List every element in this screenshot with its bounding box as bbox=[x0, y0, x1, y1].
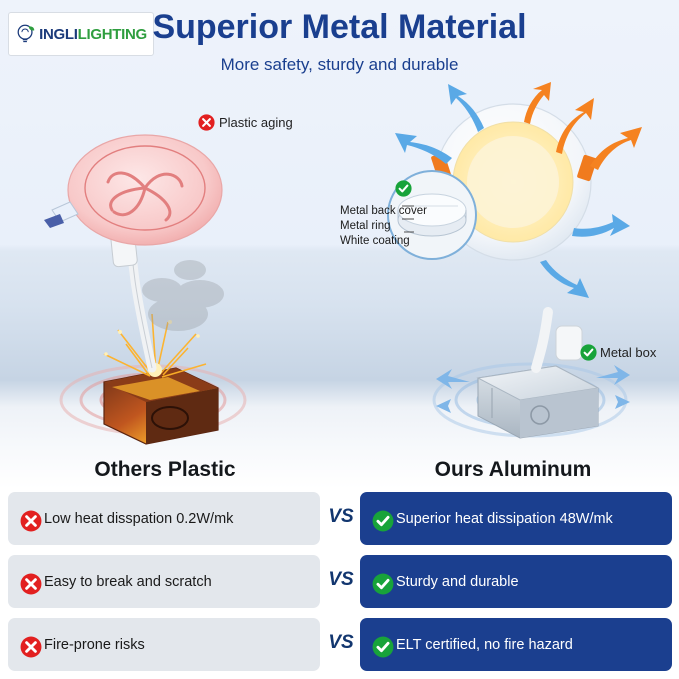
burnt-junction-box bbox=[104, 368, 218, 444]
page-subtitle: More safety, sturdy and durable bbox=[0, 55, 679, 75]
illustration-area: Plastic aging Metal back cover Metal rin… bbox=[0, 82, 679, 452]
page-title: Superior Metal Material bbox=[0, 8, 679, 47]
callout-plastic-aging-label: Plastic aging bbox=[219, 115, 293, 130]
comparison-cell-others-2-label: Easy to break and scratch bbox=[44, 574, 212, 590]
red-cross-icon bbox=[198, 114, 215, 131]
green-check-icon bbox=[372, 510, 389, 527]
green-check-icon bbox=[395, 180, 412, 197]
table-row: Low heat disspation 0.2W/mk VS Superior … bbox=[0, 492, 679, 545]
callout-metal-back-cover bbox=[395, 180, 412, 197]
callout-metal-box-label: Metal box bbox=[600, 345, 656, 360]
comparison-cell-ours-2-label: Sturdy and durable bbox=[396, 574, 519, 590]
comparison-cell-others-1-label: Low heat disspation 0.2W/mk bbox=[44, 511, 233, 527]
table-row: Easy to break and scratch VS Sturdy and … bbox=[0, 555, 679, 608]
product-infographic: INGLILIGHTING Superior Metal Material Mo… bbox=[0, 0, 679, 679]
comparison-cell-ours-2: Sturdy and durable bbox=[360, 555, 672, 608]
green-check-icon bbox=[372, 636, 389, 653]
zoom-label-metal-back-cover: Metal back cover bbox=[340, 204, 427, 219]
vs-label-3: VS bbox=[322, 632, 360, 654]
metal-junction-box bbox=[478, 366, 598, 438]
comparison-cell-others-1: Low heat disspation 0.2W/mk bbox=[8, 492, 320, 545]
comparison-cell-others-2: Easy to break and scratch bbox=[8, 555, 320, 608]
zoom-detail-labels: Metal back cover Metal ring White coatin… bbox=[340, 204, 427, 249]
red-cross-icon bbox=[20, 510, 37, 527]
green-check-icon bbox=[580, 344, 597, 361]
comparison-cell-ours-1-label: Superior heat dissipation 48W/mk bbox=[396, 511, 613, 527]
callout-metal-box: Metal box bbox=[580, 344, 656, 361]
table-row: Fire-prone risks VS ELT certified, no fi… bbox=[0, 618, 679, 671]
vs-label-1: VS bbox=[322, 506, 360, 528]
callout-plastic-aging: Plastic aging bbox=[198, 114, 293, 131]
comparison-table: Low heat disspation 0.2W/mk VS Superior … bbox=[0, 492, 679, 679]
comparison-cell-others-3: Fire-prone risks bbox=[8, 618, 320, 671]
zoom-label-metal-ring: Metal ring bbox=[340, 219, 427, 234]
zoom-label-white-coating: White coating bbox=[340, 234, 427, 249]
green-check-icon bbox=[372, 573, 389, 590]
illustration-graphic bbox=[0, 82, 679, 452]
plastic-downlight bbox=[44, 135, 222, 245]
comparison-cell-ours-3-label: ELT certified, no fire hazard bbox=[396, 637, 573, 653]
comparison-cell-ours-3: ELT certified, no fire hazard bbox=[360, 618, 672, 671]
comparison-heading-left: Others Plastic bbox=[40, 458, 290, 482]
red-cross-icon bbox=[20, 636, 37, 653]
red-cross-icon bbox=[20, 573, 37, 590]
comparison-cell-others-3-label: Fire-prone risks bbox=[44, 637, 145, 653]
vs-label-2: VS bbox=[322, 569, 360, 591]
comparison-heading-right: Ours Aluminum bbox=[388, 458, 638, 482]
comparison-cell-ours-1: Superior heat dissipation 48W/mk bbox=[360, 492, 672, 545]
